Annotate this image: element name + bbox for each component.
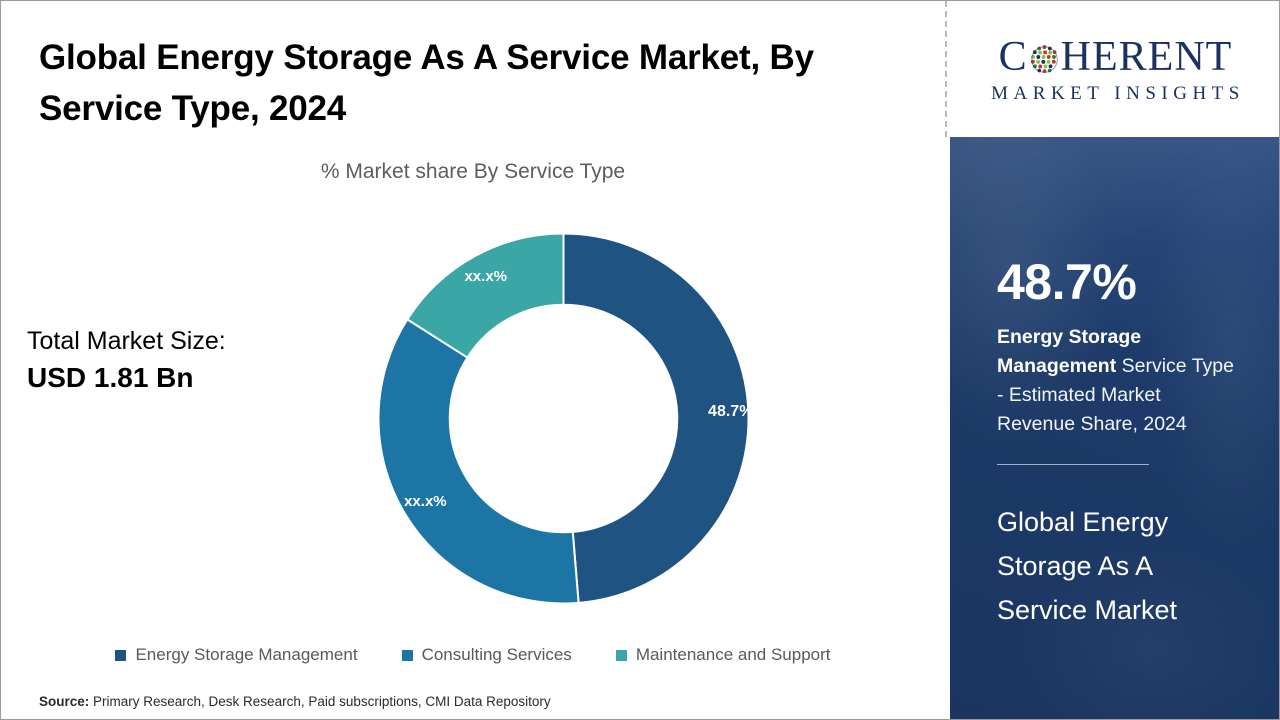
total-market-size-label: Total Market Size: — [27, 325, 226, 359]
infographic-page: Global Energy Storage As A Service Marke… — [0, 0, 1280, 720]
logo-tagline: MARKET INSIGHTS — [986, 84, 1245, 103]
highlight-panel: 48.7% Energy Storage Management Service … — [950, 137, 1280, 720]
panel-divider — [945, 1, 947, 137]
logo: C — [950, 1, 1280, 137]
donut-slice — [379, 319, 579, 603]
globe-icon — [1029, 41, 1060, 72]
donut-slice-group — [379, 234, 749, 604]
total-market-size-value: USD 1.81 Bn — [27, 359, 226, 397]
legend-label: Consulting Services — [422, 645, 572, 665]
highlight-divider — [997, 464, 1149, 465]
logo-letter-c: C — [999, 36, 1028, 78]
source-label: Source: — [39, 694, 89, 709]
highlight-percentage: 48.7% — [997, 257, 1265, 307]
total-market-size: Total Market Size: USD 1.81 Bn — [27, 325, 226, 397]
legend-item[interactable]: Energy Storage Management — [115, 645, 357, 665]
highlight-description: Energy Storage Management Service Type -… — [997, 323, 1244, 438]
legend-item[interactable]: Consulting Services — [402, 645, 572, 665]
legend-item[interactable]: Maintenance and Support — [616, 645, 831, 665]
market-name: Global Energy Storage As A Service Marke… — [997, 501, 1237, 632]
brand-panel: C — [950, 1, 1280, 720]
donut-chart: 48.7%xx.x%xx.x% — [376, 231, 751, 606]
source-note: Source: Primary Research, Desk Research,… — [39, 694, 551, 709]
legend-swatch-icon — [616, 650, 627, 661]
source-text: Primary Research, Desk Research, Paid su… — [89, 694, 550, 709]
legend-swatch-icon — [402, 650, 413, 661]
donut-slice-label: xx.x% — [404, 493, 447, 510]
legend-label: Energy Storage Management — [135, 645, 357, 665]
donut-slice-label: 48.7% — [708, 403, 751, 420]
legend-swatch-icon — [115, 650, 126, 661]
logo-wordmark: C — [999, 36, 1233, 78]
legend-label: Maintenance and Support — [636, 645, 831, 665]
logo-wordmark-rest: HERENT — [1061, 36, 1233, 78]
donut-chart-svg: 48.7%xx.x%xx.x% — [376, 231, 751, 606]
page-title: Global Energy Storage As A Service Marke… — [39, 32, 889, 135]
chart-subtitle: % Market share By Service Type — [1, 160, 945, 184]
highlight-content: 48.7% Energy Storage Management Service … — [997, 137, 1265, 633]
chart-legend: Energy Storage ManagementConsulting Serv… — [1, 645, 945, 665]
donut-slice-label: xx.x% — [464, 268, 507, 285]
chart-panel: Global Energy Storage As A Service Marke… — [1, 1, 945, 720]
